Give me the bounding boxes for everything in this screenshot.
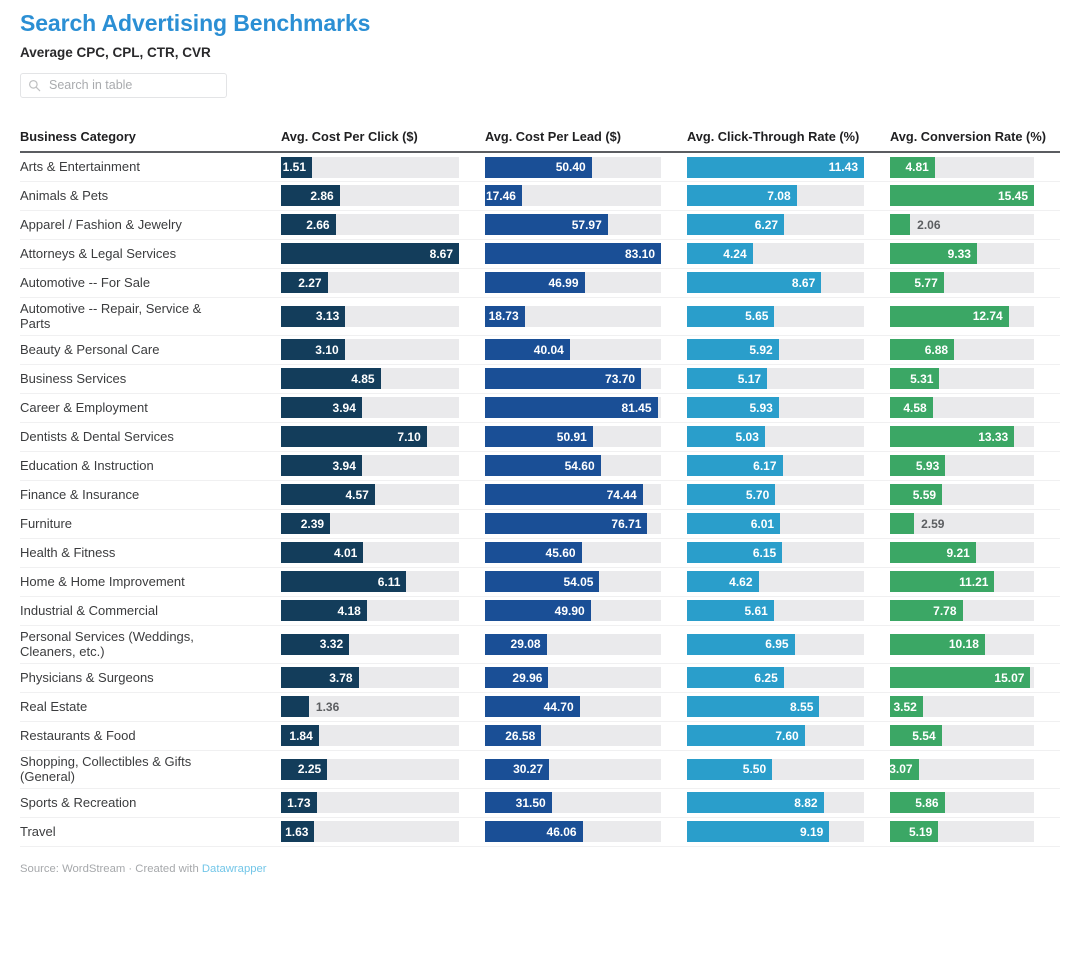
bar-value-cpc: 4.85 xyxy=(351,372,380,386)
bar-track-cpc: 3.94 xyxy=(281,455,459,476)
bar-cpc: 1.84 xyxy=(281,725,319,746)
cell-cvr: 15.45 xyxy=(890,181,1060,210)
bar-track-cpl: 30.27 xyxy=(485,759,661,780)
cell-ctr: 5.70 xyxy=(687,480,890,509)
bar-track-cpl: 31.50 xyxy=(485,792,661,813)
bar-track-cvr: 9.33 xyxy=(890,243,1034,264)
bar-track-ctr: 5.93 xyxy=(687,397,864,418)
bar-value-cpl: 31.50 xyxy=(516,796,552,810)
bar-value-cpl: 30.27 xyxy=(513,762,549,776)
bar-value-ctr: 5.03 xyxy=(736,430,765,444)
bar-cvr: 5.59 xyxy=(890,484,942,505)
category-label: Attorneys & Legal Services xyxy=(20,246,281,262)
category-label: Career & Employment xyxy=(20,400,281,416)
cell-cpc: 2.25 xyxy=(281,750,485,788)
bar-value-cvr: 3.07 xyxy=(889,762,918,776)
bar-value-cpc: 3.94 xyxy=(333,459,362,473)
bar-value-cpl: 46.99 xyxy=(548,276,584,290)
bar-cvr: 15.45 xyxy=(890,185,1034,206)
bar-track-cpc: 1.51 xyxy=(281,157,459,178)
bar-cvr: 7.78 xyxy=(890,600,963,621)
cell-cpc: 1.63 xyxy=(281,817,485,846)
bar-value-cvr: 13.33 xyxy=(978,430,1014,444)
column-header-cpl[interactable]: Avg. Cost Per Lead ($) xyxy=(485,129,687,153)
cell-cpl: 49.90 xyxy=(485,596,687,625)
search-icon xyxy=(28,79,41,92)
bar-value-cpc: 1.84 xyxy=(289,729,318,743)
cell-ctr: 8.67 xyxy=(687,268,890,297)
bar-track-cpc: 4.57 xyxy=(281,484,459,505)
cell-cpl: 50.40 xyxy=(485,152,687,181)
bar-track-ctr: 5.61 xyxy=(687,600,864,621)
cell-category: Dentists & Dental Services xyxy=(20,422,281,451)
cell-cpl: 30.27 xyxy=(485,750,687,788)
column-header-cvr[interactable]: Avg. Conversion Rate (%) xyxy=(890,129,1060,153)
bar-ctr: 4.24 xyxy=(687,243,753,264)
bar-track-cpc: 1.73 xyxy=(281,792,459,813)
bar-ctr: 5.70 xyxy=(687,484,775,505)
bar-cvr: 5.54 xyxy=(890,725,942,746)
bar-track-cpl: 83.10 xyxy=(485,243,661,264)
bar-cpl: 46.06 xyxy=(485,821,583,842)
category-label: Personal Services (Weddings,Cleaners, et… xyxy=(20,629,281,660)
bar-ctr: 5.61 xyxy=(687,600,774,621)
bar-track-cvr: 5.54 xyxy=(890,725,1034,746)
bar-cvr: 3.52 xyxy=(890,696,923,717)
bar-track-cpc: 2.27 xyxy=(281,272,459,293)
cell-ctr: 6.15 xyxy=(687,538,890,567)
bar-cpc: 3.13 xyxy=(281,306,345,327)
bar-value-cpc: 3.94 xyxy=(333,401,362,415)
cell-category: Restaurants & Food xyxy=(20,721,281,750)
page-subtitle: Average CPC, CPL, CTR, CVR xyxy=(20,45,1060,60)
bar-value-cvr: 15.45 xyxy=(998,189,1034,203)
table-row: Beauty & Personal Care3.1040.045.926.88 xyxy=(20,335,1060,364)
bar-cpl: 17.46 xyxy=(485,185,522,206)
cell-cvr: 11.21 xyxy=(890,567,1060,596)
bar-track-cpc: 6.11 xyxy=(281,571,459,592)
bar-cpl: 30.27 xyxy=(485,759,549,780)
cell-cvr: 2.59 xyxy=(890,509,1060,538)
bar-cpc: 8.67 xyxy=(281,243,459,264)
bar-value-ctr: 6.01 xyxy=(751,517,780,531)
bar-value-cpl: 73.70 xyxy=(605,372,641,386)
cell-category: Beauty & Personal Care xyxy=(20,335,281,364)
cell-cpc: 3.94 xyxy=(281,393,485,422)
table-row: Arts & Entertainment1.5150.4011.434.81 xyxy=(20,152,1060,181)
table-row: Home & Home Improvement6.1154.054.6211.2… xyxy=(20,567,1060,596)
cell-ctr: 4.24 xyxy=(687,239,890,268)
table-row: Education & Instruction3.9454.606.175.93 xyxy=(20,451,1060,480)
bar-value-cvr: 5.93 xyxy=(916,459,945,473)
bar-cpc: 3.94 xyxy=(281,397,362,418)
table-row: Career & Employment3.9481.455.934.58 xyxy=(20,393,1060,422)
bar-cpc: 2.25 xyxy=(281,759,327,780)
cell-cpl: 44.70 xyxy=(485,692,687,721)
bar-value-cpl: 83.10 xyxy=(625,247,661,261)
cell-cvr: 5.77 xyxy=(890,268,1060,297)
bar-track-cpl: 74.44 xyxy=(485,484,661,505)
bar-track-cpl: 46.99 xyxy=(485,272,661,293)
bar-value-cvr: 5.31 xyxy=(910,372,939,386)
bar-track-cpc: 3.32 xyxy=(281,634,459,655)
bar-cvr: 9.33 xyxy=(890,243,977,264)
bar-value-cvr: 5.77 xyxy=(914,276,943,290)
table-row: Dentists & Dental Services7.1050.915.031… xyxy=(20,422,1060,451)
bar-cpl: 54.05 xyxy=(485,571,599,592)
table-row: Animals & Pets2.8617.467.0815.45 xyxy=(20,181,1060,210)
bar-track-cvr: 6.88 xyxy=(890,339,1034,360)
bar-track-cpl: 50.40 xyxy=(485,157,661,178)
bar-track-ctr: 6.17 xyxy=(687,455,864,476)
table-row: Industrial & Commercial4.1849.905.617.78 xyxy=(20,596,1060,625)
bar-cpl: 54.60 xyxy=(485,455,601,476)
bar-value-cpc: 3.78 xyxy=(329,671,358,685)
bar-value-cvr: 2.59 xyxy=(914,517,944,531)
cell-cpl: 45.60 xyxy=(485,538,687,567)
bar-track-cpl: 44.70 xyxy=(485,696,661,717)
bar-cvr: 12.74 xyxy=(890,306,1009,327)
bar-track-cpc: 3.13 xyxy=(281,306,459,327)
bar-cvr: 9.21 xyxy=(890,542,976,563)
cell-cvr: 12.74 xyxy=(890,297,1060,335)
bar-ctr: 5.93 xyxy=(687,397,779,418)
cell-cpc: 3.13 xyxy=(281,297,485,335)
bar-value-cvr: 4.58 xyxy=(903,401,932,415)
search-input[interactable] xyxy=(47,77,219,93)
table-row: Physicians & Surgeons3.7829.966.2515.07 xyxy=(20,663,1060,692)
bar-ctr: 11.43 xyxy=(687,157,864,178)
cell-category: Shopping, Collectibles & Gifts(General) xyxy=(20,750,281,788)
bar-cpc: 2.39 xyxy=(281,513,330,534)
cell-cvr: 13.33 xyxy=(890,422,1060,451)
cell-cpc: 2.86 xyxy=(281,181,485,210)
cell-cvr: 4.81 xyxy=(890,152,1060,181)
cell-cpc: 4.18 xyxy=(281,596,485,625)
table-row: Furniture2.3976.716.012.59 xyxy=(20,509,1060,538)
cell-cvr: 7.78 xyxy=(890,596,1060,625)
bar-track-cvr: 15.07 xyxy=(890,667,1034,688)
bar-track-cvr: 9.21 xyxy=(890,542,1034,563)
cell-ctr: 6.27 xyxy=(687,210,890,239)
bar-track-cpl: 81.45 xyxy=(485,397,661,418)
bar-track-ctr: 7.60 xyxy=(687,725,864,746)
bar-value-cpc: 2.86 xyxy=(310,189,339,203)
bar-value-ctr: 8.55 xyxy=(790,700,819,714)
category-label: Automotive -- Repair, Service &Parts xyxy=(20,301,281,332)
cell-cvr: 4.58 xyxy=(890,393,1060,422)
bar-track-ctr: 8.55 xyxy=(687,696,864,717)
bar-value-cvr: 4.81 xyxy=(905,160,934,174)
bar-value-cpl: 74.44 xyxy=(607,488,643,502)
cell-cvr: 5.93 xyxy=(890,451,1060,480)
bar-track-cpc: 3.10 xyxy=(281,339,459,360)
cell-cpl: 26.58 xyxy=(485,721,687,750)
bar-cpl: 81.45 xyxy=(485,397,658,418)
cell-cvr: 5.19 xyxy=(890,817,1060,846)
bar-value-cpc: 7.10 xyxy=(397,430,426,444)
bar-track-cvr: 5.19 xyxy=(890,821,1034,842)
cell-cpl: 54.05 xyxy=(485,567,687,596)
table-row: Automotive -- Repair, Service &Parts3.13… xyxy=(20,297,1060,335)
bar-value-ctr: 8.67 xyxy=(792,276,821,290)
table-row: Apparel / Fashion & Jewelry2.6657.976.27… xyxy=(20,210,1060,239)
bar-cpl: 44.70 xyxy=(485,696,580,717)
table-row: Shopping, Collectibles & Gifts(General)2… xyxy=(20,750,1060,788)
bar-value-ctr: 5.50 xyxy=(743,762,772,776)
bar-ctr: 7.60 xyxy=(687,725,805,746)
bar-value-ctr: 7.08 xyxy=(767,189,796,203)
bar-value-cpc: 8.67 xyxy=(430,247,459,261)
cell-ctr: 5.65 xyxy=(687,297,890,335)
bar-cpl: 29.08 xyxy=(485,634,547,655)
bar-track-cpc: 4.85 xyxy=(281,368,459,389)
bar-cvr: 2.06 xyxy=(890,214,910,235)
bar-ctr: 5.17 xyxy=(687,368,767,389)
cell-ctr: 6.01 xyxy=(687,509,890,538)
bar-cpc: 4.01 xyxy=(281,542,363,563)
bar-track-cpl: 50.91 xyxy=(485,426,661,447)
category-label: Automotive -- For Sale xyxy=(20,275,281,291)
category-label: Real Estate xyxy=(20,699,281,715)
benchmarks-table: Business Category Avg. Cost Per Click ($… xyxy=(20,129,1060,847)
category-label: Physicians & Surgeons xyxy=(20,670,281,686)
bar-cpc: 2.66 xyxy=(281,214,336,235)
bar-cpc: 1.73 xyxy=(281,792,317,813)
bar-ctr: 6.25 xyxy=(687,667,784,688)
bar-track-cpc: 2.86 xyxy=(281,185,459,206)
bar-value-cpc: 2.66 xyxy=(306,218,335,232)
category-label: Industrial & Commercial xyxy=(20,603,281,619)
bar-ctr: 5.65 xyxy=(687,306,774,327)
category-label: Furniture xyxy=(20,516,281,532)
bar-cvr: 5.19 xyxy=(890,821,938,842)
bar-track-ctr: 6.25 xyxy=(687,667,864,688)
bar-track-cpl: 29.96 xyxy=(485,667,661,688)
category-label: Apparel / Fashion & Jewelry xyxy=(20,217,281,233)
cell-category: Career & Employment xyxy=(20,393,281,422)
cell-ctr: 5.50 xyxy=(687,750,890,788)
bar-value-cpl: 29.08 xyxy=(511,637,547,651)
cell-cpc: 3.10 xyxy=(281,335,485,364)
table-row: Automotive -- For Sale2.2746.998.675.77 xyxy=(20,268,1060,297)
bar-track-cpc: 2.39 xyxy=(281,513,459,534)
bar-track-cpl: 26.58 xyxy=(485,725,661,746)
bar-value-cpl: 50.40 xyxy=(556,160,592,174)
bar-value-ctr: 11.43 xyxy=(829,160,864,174)
bar-track-cpc: 1.63 xyxy=(281,821,459,842)
cell-cvr: 9.33 xyxy=(890,239,1060,268)
bar-value-cpl: 40.04 xyxy=(534,343,570,357)
cell-category: Home & Home Improvement xyxy=(20,567,281,596)
bar-value-cvr: 9.33 xyxy=(948,247,977,261)
bar-track-cpc: 1.36 xyxy=(281,696,459,717)
bar-cvr: 10.18 xyxy=(890,634,985,655)
bar-track-cvr: 13.33 xyxy=(890,426,1034,447)
table-row: Restaurants & Food1.8426.587.605.54 xyxy=(20,721,1060,750)
bar-cpl: 31.50 xyxy=(485,792,552,813)
bar-value-cvr: 3.52 xyxy=(893,700,922,714)
bar-cvr: 13.33 xyxy=(890,426,1014,447)
bar-value-cpl: 54.05 xyxy=(563,575,599,589)
bar-track-cvr: 2.59 xyxy=(890,513,1034,534)
bar-value-cpc: 6.11 xyxy=(378,575,407,589)
bar-value-cpl: 17.46 xyxy=(486,189,522,203)
bar-value-cvr: 2.06 xyxy=(910,218,940,232)
cell-cvr: 3.52 xyxy=(890,692,1060,721)
bar-cpc: 2.86 xyxy=(281,185,340,206)
cell-cpc: 2.66 xyxy=(281,210,485,239)
bar-value-cpc: 1.73 xyxy=(287,796,316,810)
bar-cvr: 6.88 xyxy=(890,339,954,360)
bar-cpc: 1.36 xyxy=(281,696,309,717)
chart-footer: Source: WordStream · Created with Datawr… xyxy=(20,863,1060,875)
table-row: Health & Fitness4.0145.606.159.21 xyxy=(20,538,1060,567)
cell-cpc: 4.85 xyxy=(281,364,485,393)
bar-cvr: 5.86 xyxy=(890,792,945,813)
category-label: Arts & Entertainment xyxy=(20,159,281,175)
category-label: Beauty & Personal Care xyxy=(20,342,281,358)
table-row: Attorneys & Legal Services8.6783.104.249… xyxy=(20,239,1060,268)
cell-cpl: 81.45 xyxy=(485,393,687,422)
bar-value-cpc: 2.27 xyxy=(298,276,327,290)
bar-cpc: 4.18 xyxy=(281,600,367,621)
source-text: Source: WordStream · Created with xyxy=(20,863,202,875)
bar-track-ctr: 5.92 xyxy=(687,339,864,360)
bar-cpl: 74.44 xyxy=(485,484,643,505)
bar-value-cpc: 4.57 xyxy=(345,488,374,502)
cell-cpc: 3.78 xyxy=(281,663,485,692)
cell-ctr: 8.55 xyxy=(687,692,890,721)
bar-track-cpc: 1.84 xyxy=(281,725,459,746)
bar-cvr: 5.93 xyxy=(890,455,945,476)
cell-category: Education & Instruction xyxy=(20,451,281,480)
bar-track-ctr: 6.15 xyxy=(687,542,864,563)
bar-value-cvr: 11.21 xyxy=(959,575,994,589)
bar-value-cpl: 54.60 xyxy=(565,459,601,473)
cell-category: Business Services xyxy=(20,364,281,393)
cell-cvr: 2.06 xyxy=(890,210,1060,239)
bar-value-ctr: 5.93 xyxy=(749,401,778,415)
cell-ctr: 6.95 xyxy=(687,625,890,663)
bar-cpc: 1.63 xyxy=(281,821,314,842)
cell-ctr: 9.19 xyxy=(687,817,890,846)
cell-category: Automotive -- For Sale xyxy=(20,268,281,297)
bar-cpc: 3.10 xyxy=(281,339,345,360)
cell-category: Health & Fitness xyxy=(20,538,281,567)
table-body: Arts & Entertainment1.5150.4011.434.81An… xyxy=(20,152,1060,846)
datawrapper-table-chart: Search Advertising Benchmarks Average CP… xyxy=(0,0,1080,960)
bar-cvr: 4.58 xyxy=(890,397,933,418)
cell-cpl: 31.50 xyxy=(485,788,687,817)
search-box[interactable] xyxy=(20,73,227,98)
bar-ctr: 5.03 xyxy=(687,426,765,447)
bar-ctr: 8.55 xyxy=(687,696,819,717)
bar-ctr: 8.67 xyxy=(687,272,821,293)
cell-cvr: 5.54 xyxy=(890,721,1060,750)
bar-value-ctr: 5.17 xyxy=(738,372,767,386)
bar-cpc: 4.85 xyxy=(281,368,381,389)
bar-cpl: 50.91 xyxy=(485,426,593,447)
cell-cvr: 10.18 xyxy=(890,625,1060,663)
bar-track-ctr: 5.17 xyxy=(687,368,864,389)
bar-track-cpl: 17.46 xyxy=(485,185,661,206)
bar-value-cpc: 1.36 xyxy=(309,700,339,714)
bar-track-ctr: 5.50 xyxy=(687,759,864,780)
bar-track-cvr: 15.45 xyxy=(890,185,1034,206)
cell-ctr: 5.93 xyxy=(687,393,890,422)
bar-value-cpl: 46.06 xyxy=(547,825,583,839)
bar-value-cpl: 50.91 xyxy=(557,430,593,444)
page-title: Search Advertising Benchmarks xyxy=(20,0,1060,38)
bar-track-cpc: 2.66 xyxy=(281,214,459,235)
column-header-ctr[interactable]: Avg. Click-Through Rate (%) xyxy=(687,129,890,153)
bar-value-cvr: 7.78 xyxy=(933,604,962,618)
column-header-cpc[interactable]: Avg. Cost Per Click ($) xyxy=(281,129,485,153)
bar-value-cpc: 1.51 xyxy=(283,160,312,174)
cell-ctr: 7.60 xyxy=(687,721,890,750)
table-row: Sports & Recreation1.7331.508.825.86 xyxy=(20,788,1060,817)
bar-track-ctr: 8.82 xyxy=(687,792,864,813)
bar-track-ctr: 4.24 xyxy=(687,243,864,264)
cell-cpc: 4.01 xyxy=(281,538,485,567)
cell-category: Sports & Recreation xyxy=(20,788,281,817)
bar-value-ctr: 6.15 xyxy=(753,546,782,560)
cell-ctr: 7.08 xyxy=(687,181,890,210)
cell-category: Travel xyxy=(20,817,281,846)
cell-cpc: 6.11 xyxy=(281,567,485,596)
cell-cvr: 9.21 xyxy=(890,538,1060,567)
bar-value-cpc: 3.10 xyxy=(315,343,344,357)
bar-track-cvr: 3.07 xyxy=(890,759,1034,780)
bar-value-ctr: 6.25 xyxy=(754,671,783,685)
bar-track-cvr: 7.78 xyxy=(890,600,1034,621)
bar-track-cvr: 2.06 xyxy=(890,214,1034,235)
cell-cvr: 5.31 xyxy=(890,364,1060,393)
bar-cpl: 49.90 xyxy=(485,600,591,621)
bar-value-cpc: 3.32 xyxy=(320,637,349,651)
cell-cpc: 8.67 xyxy=(281,239,485,268)
cell-category: Animals & Pets xyxy=(20,181,281,210)
bar-track-cpl: 18.73 xyxy=(485,306,661,327)
bar-value-ctr: 5.61 xyxy=(745,604,774,618)
bar-value-ctr: 9.19 xyxy=(800,825,829,839)
bar-cvr: 2.59 xyxy=(890,513,914,534)
bar-value-cpl: 81.45 xyxy=(621,401,657,415)
bar-track-cpl: 46.06 xyxy=(485,821,661,842)
bar-track-ctr: 5.03 xyxy=(687,426,864,447)
bar-track-ctr: 6.95 xyxy=(687,634,864,655)
cell-cpl: 40.04 xyxy=(485,335,687,364)
cell-category: Furniture xyxy=(20,509,281,538)
bar-track-cpl: 40.04 xyxy=(485,339,661,360)
cell-cpl: 46.99 xyxy=(485,268,687,297)
cell-cvr: 3.07 xyxy=(890,750,1060,788)
category-label: Health & Fitness xyxy=(20,545,281,561)
category-label: Travel xyxy=(20,824,281,840)
bar-track-ctr: 4.62 xyxy=(687,571,864,592)
bar-track-cpc: 8.67 xyxy=(281,243,459,264)
bar-ctr: 6.01 xyxy=(687,513,780,534)
bar-cvr: 4.81 xyxy=(890,157,935,178)
cell-cpc: 1.84 xyxy=(281,721,485,750)
cell-ctr: 5.17 xyxy=(687,364,890,393)
cell-cpl: 18.73 xyxy=(485,297,687,335)
datawrapper-link[interactable]: Datawrapper xyxy=(202,863,267,875)
cell-category: Automotive -- Repair, Service &Parts xyxy=(20,297,281,335)
bar-ctr: 5.92 xyxy=(687,339,779,360)
column-header-category[interactable]: Business Category xyxy=(20,129,281,153)
